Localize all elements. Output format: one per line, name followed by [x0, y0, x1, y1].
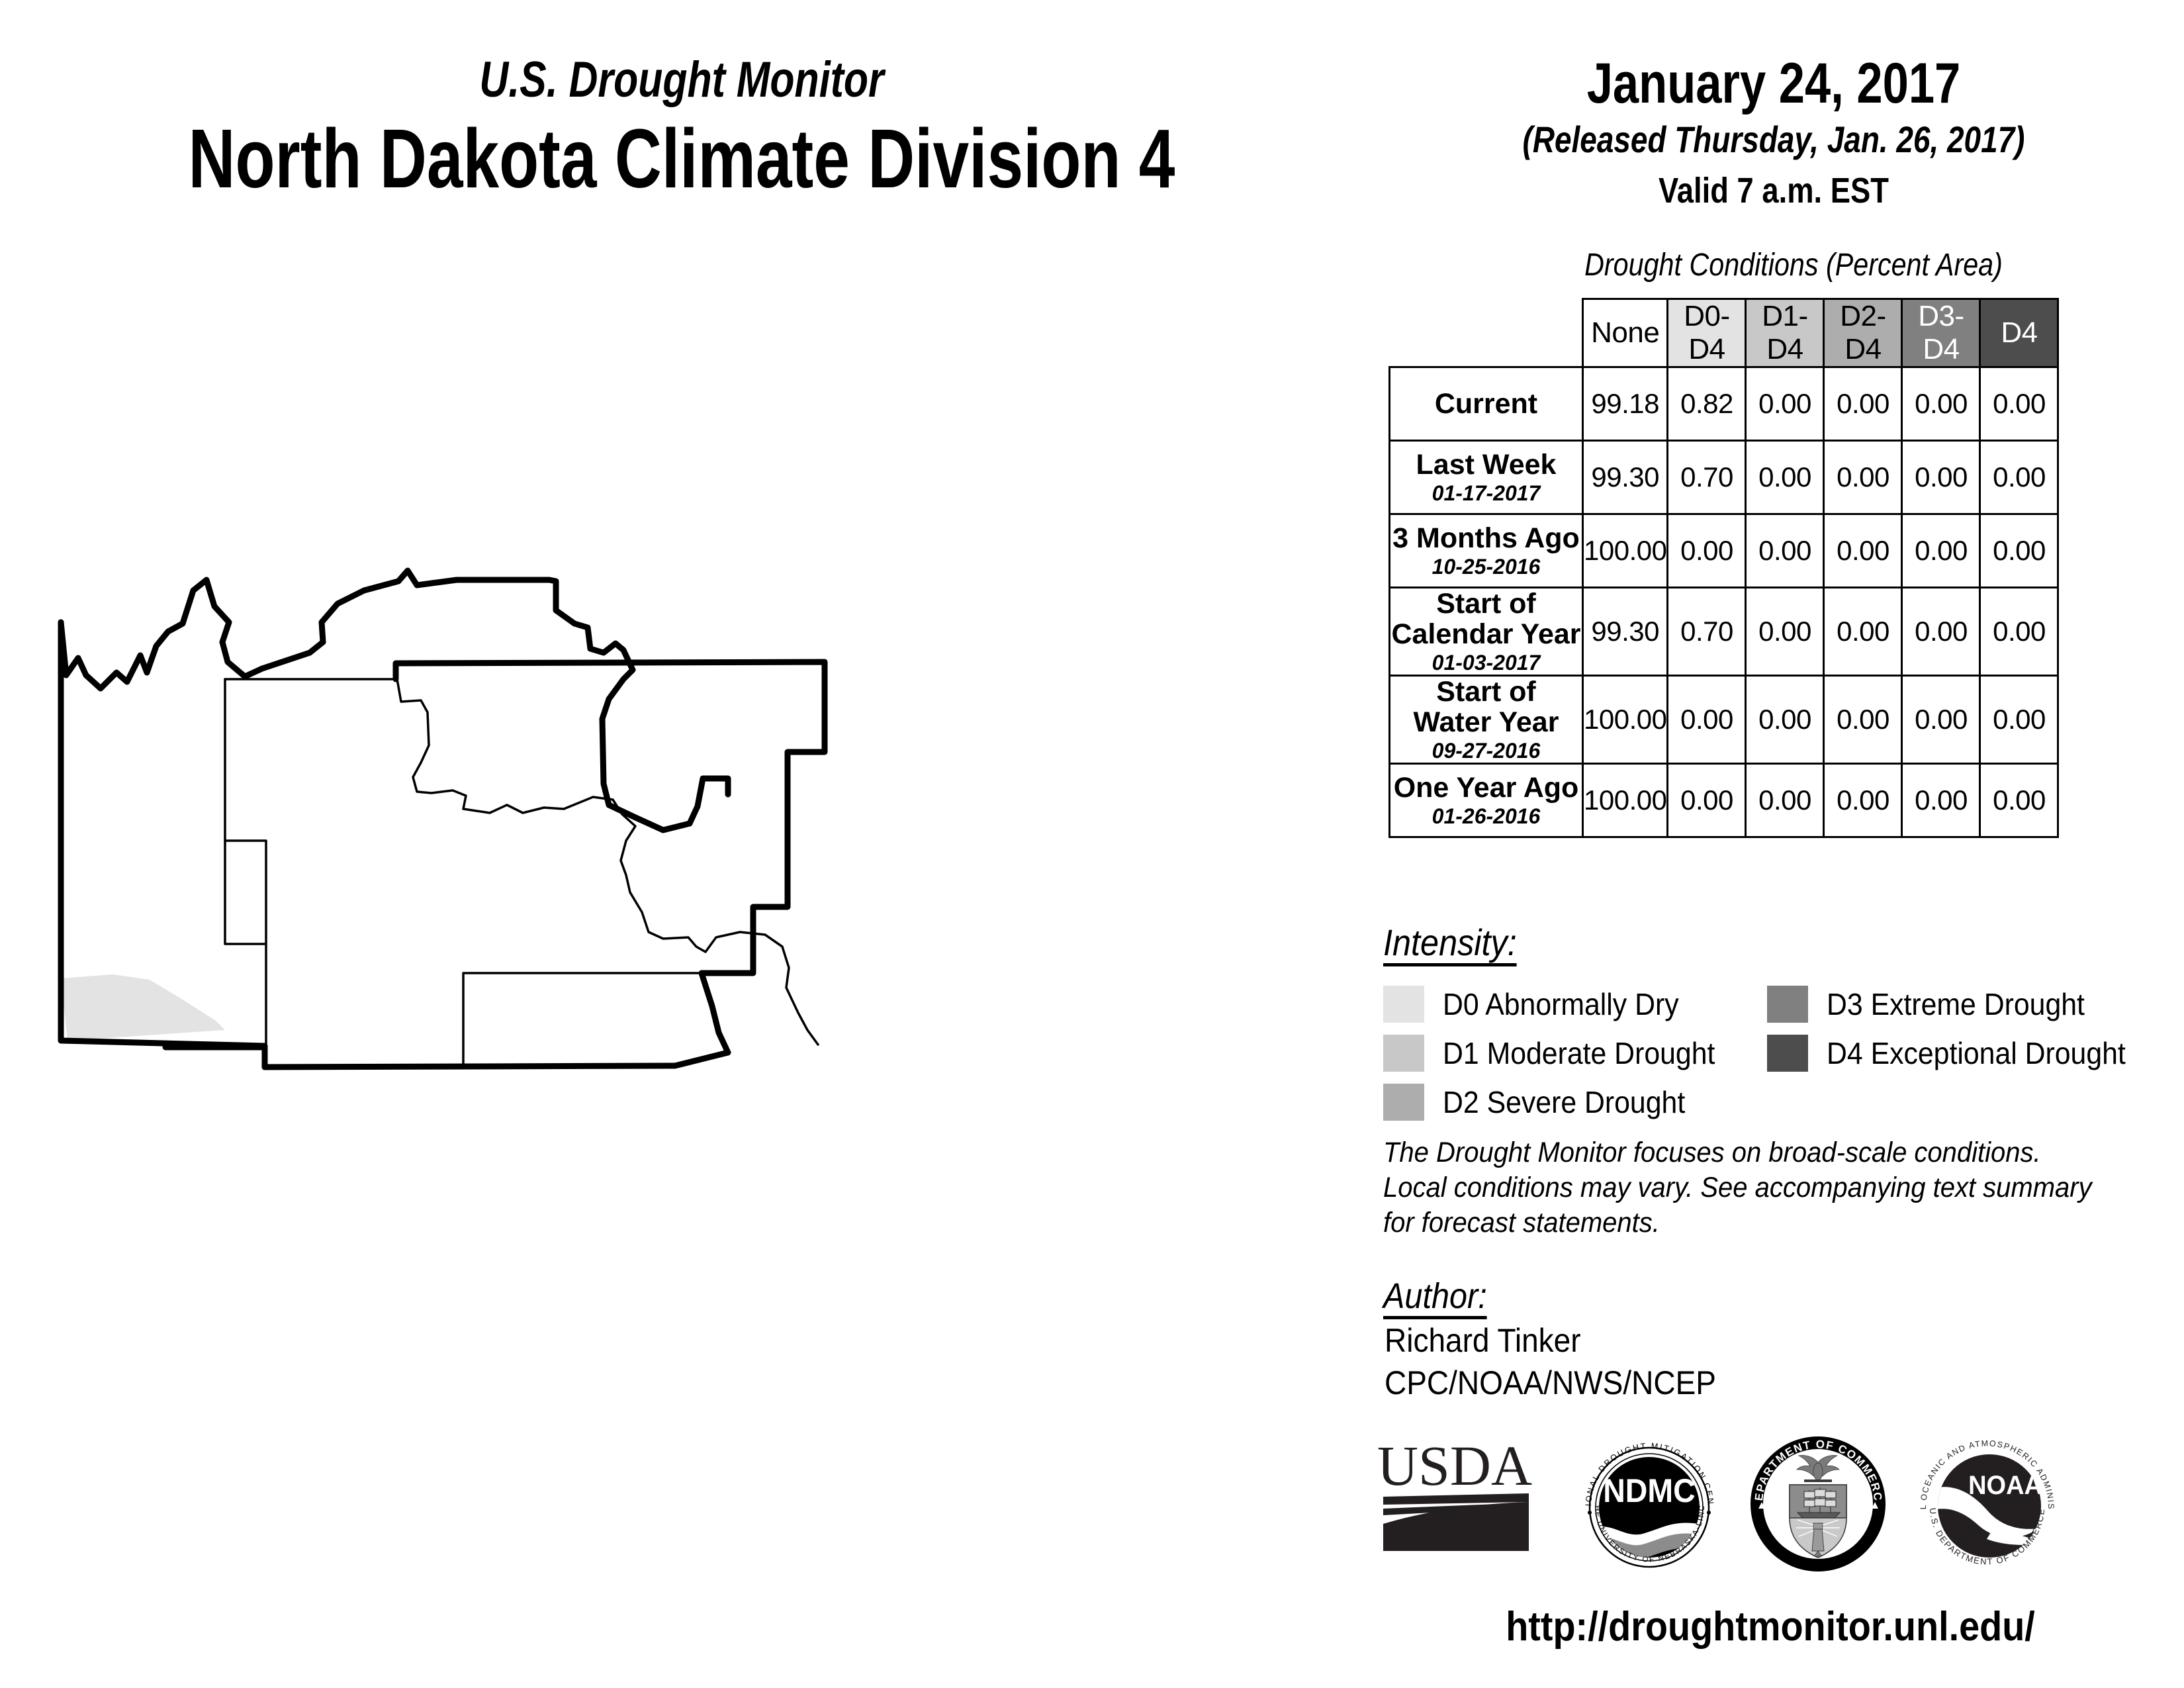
legend-swatch-d4 [1767, 1035, 1808, 1072]
table-header-row: NoneD0-D4D1-D4D2-D4D3-D4D4 [1390, 299, 2058, 367]
map-svg [26, 549, 1324, 1476]
cell-d1-d4: 0.00 [1746, 588, 1824, 676]
legend-label-d0: D0 Abnormally Dry [1443, 988, 1679, 1021]
cell-d4: 0.00 [1980, 441, 2058, 514]
cell-d4: 0.00 [1980, 514, 2058, 588]
cell-d2-d4: 0.00 [1824, 588, 1902, 676]
row-label-date: 01-26-2016 [1390, 804, 1582, 828]
row-label-date: 01-17-2017 [1390, 481, 1582, 505]
legend-label-d3: D3 Extreme Drought [1827, 988, 2085, 1021]
row-label-date: 09-27-2016 [1390, 739, 1582, 763]
cell-d3-d4: 0.00 [1902, 588, 1980, 676]
drought-table: NoneD0-D4D1-D4D2-D4D3-D4D4 Current99.180… [1388, 298, 2059, 838]
row-label-title: Start of [1390, 677, 1582, 707]
table-header-d2-d4: D2-D4 [1824, 299, 1902, 367]
cell-d4: 0.00 [1980, 676, 2058, 764]
author-heading: Author: [1383, 1278, 1487, 1319]
table-header-d3-d4: D3-D4 [1902, 299, 1980, 367]
row-label-title-2: Calendar Year [1390, 619, 1582, 649]
table-header-none: None [1583, 299, 1668, 367]
author-name: Richard Tinker [1385, 1323, 1581, 1358]
cell-none: 99.18 [1583, 367, 1668, 441]
cell-d2-d4: 0.00 [1824, 676, 1902, 764]
legend-column-left: D0 Abnormally DryD1 Moderate DroughtD2 S… [1383, 980, 1767, 1127]
legend-swatch-d1 [1383, 1035, 1424, 1072]
drought-map[interactable] [26, 549, 1324, 1476]
valid-date: January 24, 2017 [1502, 53, 2045, 114]
division-outer-boundary [61, 571, 728, 830]
cell-d3-d4: 0.00 [1902, 441, 1980, 514]
table-body: Current99.180.820.000.000.000.00Last Wee… [1390, 367, 2058, 837]
legend-swatch-d3 [1767, 986, 1808, 1023]
cell-d3-d4: 0.00 [1902, 514, 1980, 588]
row-label-date: 10-25-2016 [1390, 555, 1582, 579]
legend-swatch-d2 [1383, 1084, 1424, 1121]
row-label-title: 3 Months Ago [1390, 523, 1582, 553]
legend-item-d4: D4 Exceptional Drought [1767, 1029, 2151, 1078]
dept-of-commerce-seal: DEPARTMENT OF COMMERCE UNITED STATES OF … [1747, 1433, 1889, 1575]
legend-item-d0: D0 Abnormally Dry [1383, 980, 1767, 1029]
legend-label-d4: D4 Exceptional Drought [1827, 1037, 2126, 1070]
cell-d1-d4: 0.00 [1746, 367, 1824, 441]
drought-conditions-table: NoneD0-D4D1-D4D2-D4D3-D4D4 Current99.180… [1388, 298, 2059, 838]
cell-d1-d4: 0.00 [1746, 676, 1824, 764]
valid-time: Valid 7 a.m. EST [1496, 171, 2052, 211]
cell-d2-d4: 0.00 [1824, 441, 1902, 514]
legend-label-d1: D1 Moderate Drought [1443, 1037, 1715, 1070]
legend-item-d1: D1 Moderate Drought [1383, 1029, 1767, 1078]
cell-d2-d4: 0.00 [1824, 514, 1902, 588]
table-row: 3 Months Ago10-25-2016100.000.000.000.00… [1390, 514, 2058, 588]
release-date: (Released Thursday, Jan. 26, 2017) [1502, 119, 2045, 160]
table-caption: Drought Conditions (Percent Area) [1492, 248, 2095, 283]
cell-d0-d4: 0.82 [1668, 367, 1746, 441]
date-block: January 24, 2017 (Released Thursday, Jan… [1443, 53, 2105, 211]
svg-text:NOAA: NOAA [1968, 1471, 2042, 1500]
table-row: Current99.180.820.000.000.000.00 [1390, 367, 2058, 441]
noaa-logo: NOAA NATIONAL OCEANIC AND ATMOSPHERIC AD… [1913, 1433, 2062, 1582]
row-label-6: One Year Ago01-26-2016 [1390, 764, 1583, 837]
disclaimer-text: The Drought Monitor focuses on broad-sca… [1383, 1135, 2109, 1241]
cell-d1-d4: 0.00 [1746, 514, 1824, 588]
agency-logos: USDA NDMC NATIONAL DROUGHT MITIGATION CE… [1377, 1433, 2158, 1589]
cell-d4: 0.00 [1980, 588, 2058, 676]
table-header: NoneD0-D4D1-D4D2-D4D3-D4D4 [1390, 299, 2058, 367]
cell-d2-d4: 0.00 [1824, 764, 1902, 837]
table-header-d1-d4: D1-D4 [1746, 299, 1824, 367]
row-label-4: Start ofCalendar Year01-03-2017 [1390, 588, 1583, 676]
table-header-d4: D4 [1980, 299, 2058, 367]
title-block: U.S. Drought Monitor North Dakota Climat… [0, 53, 1363, 203]
table-row: Start ofCalendar Year01-03-201799.300.70… [1390, 588, 2058, 676]
svg-text:USDA: USDA [1377, 1434, 1532, 1497]
cell-d4: 0.00 [1980, 764, 2058, 837]
row-label-2: Last Week01-17-2017 [1390, 441, 1583, 514]
cell-none: 100.00 [1583, 764, 1668, 837]
cell-d2-d4: 0.00 [1824, 367, 1902, 441]
cell-d3-d4: 0.00 [1902, 676, 1980, 764]
intensity-heading: Intensity: [1383, 923, 1517, 966]
cell-d0-d4: 0.00 [1668, 764, 1746, 837]
d0-drought-area [61, 974, 225, 1041]
author-organization: CPC/NOAA/NWS/NCEP [1385, 1365, 1716, 1401]
row-label-title: Last Week [1390, 449, 1582, 480]
eastern-block-boundary [165, 662, 825, 1067]
table-row: Last Week01-17-201799.300.700.000.000.00… [1390, 441, 2058, 514]
cell-none: 100.00 [1583, 514, 1668, 588]
ndmc-logo: NDMC NATIONAL DROUGHT MITIGATION CENTER … [1575, 1433, 1724, 1582]
cell-d3-d4: 0.00 [1902, 367, 1980, 441]
legend-item-d3: D3 Extreme Drought [1767, 980, 2151, 1029]
table-header-d0-d4: D0-D4 [1668, 299, 1746, 367]
cell-none: 100.00 [1583, 676, 1668, 764]
row-label-title: One Year Ago [1390, 773, 1582, 803]
drought-monitor-suptitle: U.S. Drought Monitor [136, 53, 1227, 107]
legend-item-d2: D2 Severe Drought [1383, 1078, 1767, 1127]
site-url[interactable]: http://droughtmonitor.unl.edu/ [1416, 1605, 2125, 1649]
cell-d3-d4: 0.00 [1902, 764, 1980, 837]
row-label-3: 3 Months Ago10-25-2016 [1390, 514, 1583, 588]
row-label-1: Current [1390, 367, 1583, 441]
legend-label-d2: D2 Severe Drought [1443, 1086, 1685, 1119]
table-row: Start ofWater Year09-27-2016100.000.000.… [1390, 676, 2058, 764]
row-label-title: Current [1390, 389, 1582, 419]
legend-column-right: D3 Extreme DroughtD4 Exceptional Drought [1767, 980, 2151, 1078]
table-corner-blank [1390, 299, 1583, 367]
row-label-5: Start ofWater Year09-27-2016 [1390, 676, 1583, 764]
row-label-title: Start of [1390, 588, 1582, 619]
cell-d0-d4: 0.00 [1668, 676, 1746, 764]
cell-d0-d4: 0.70 [1668, 441, 1746, 514]
row-label-title-2: Water Year [1390, 707, 1582, 737]
cell-none: 99.30 [1583, 588, 1668, 676]
cell-d1-d4: 0.00 [1746, 441, 1824, 514]
cell-d0-d4: 0.00 [1668, 514, 1746, 588]
county-lines [225, 663, 818, 1066]
cell-d1-d4: 0.00 [1746, 764, 1824, 837]
table-row: One Year Ago01-26-2016100.000.000.000.00… [1390, 764, 2058, 837]
cell-d4: 0.00 [1980, 367, 2058, 441]
legend-swatch-d0 [1383, 986, 1424, 1023]
usda-logo: USDA [1377, 1433, 1535, 1575]
cell-none: 99.30 [1583, 441, 1668, 514]
svg-text:NDMC: NDMC [1603, 1472, 1695, 1509]
row-label-date: 01-03-2017 [1390, 651, 1582, 675]
page-title: North Dakota Climate Division 4 [150, 115, 1214, 203]
cell-d0-d4: 0.70 [1668, 588, 1746, 676]
